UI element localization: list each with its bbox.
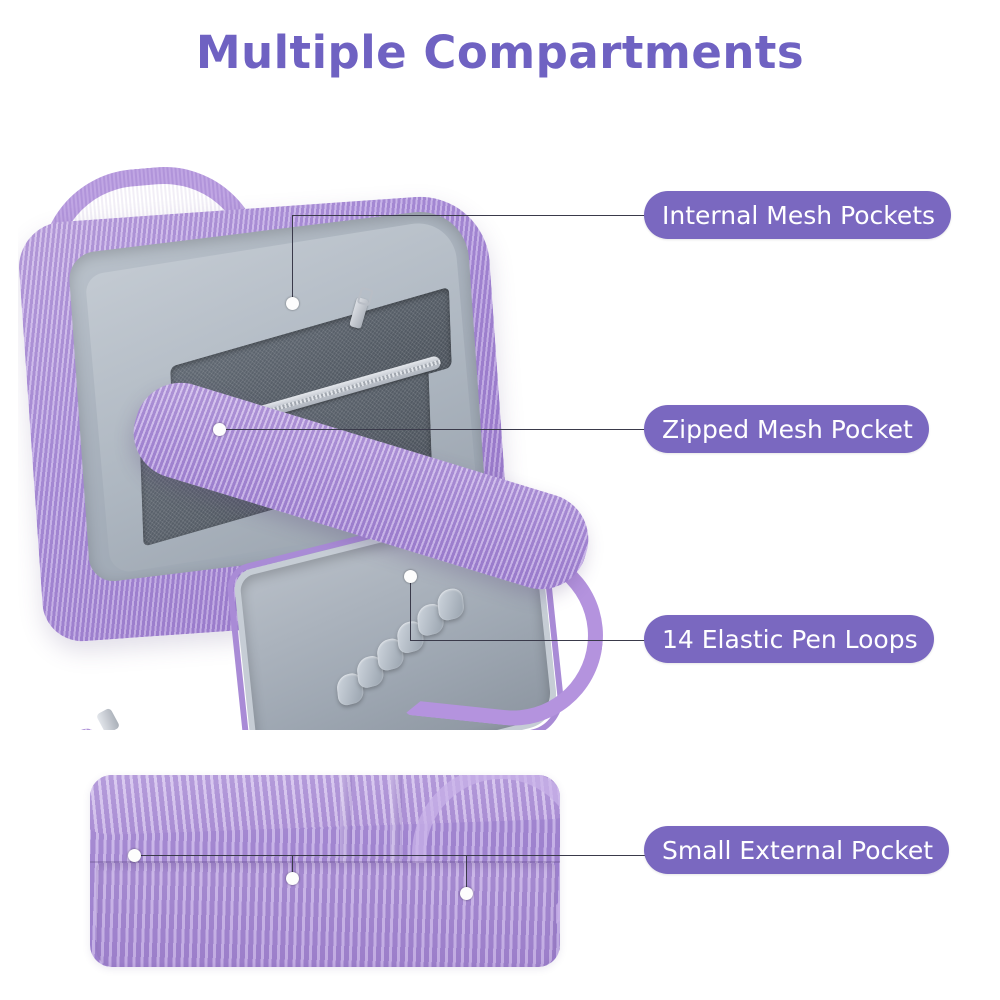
callout-badge-small-external-pocket[interactable]: Small External Pocket bbox=[644, 826, 949, 874]
page-title: Multiple Compartments bbox=[0, 26, 1000, 79]
infographic-canvas: Multiple Compartments bbox=[0, 0, 1000, 1000]
open-pencil-case-main-photo bbox=[18, 150, 638, 730]
marker-dot-elastic-pen-loops bbox=[404, 570, 417, 583]
leader-line-internal-mesh-vertical bbox=[292, 215, 293, 305]
external-pocket-closeup-photo bbox=[90, 775, 560, 967]
pocket-opening-seam bbox=[90, 861, 560, 863]
marker-dot-internal-mesh-pockets bbox=[286, 297, 299, 310]
callout-badge-elastic-pen-loops[interactable]: 14 Elastic Pen Loops bbox=[644, 615, 934, 663]
leader-line-external-pocket-horizontal bbox=[134, 855, 648, 856]
pen-loop bbox=[437, 586, 465, 622]
leader-line-internal-mesh-horizontal bbox=[292, 215, 648, 216]
callout-badge-zipped-mesh-pocket[interactable]: Zipped Mesh Pocket bbox=[644, 405, 929, 453]
leader-line-pen-loops-horizontal bbox=[410, 640, 648, 641]
marker-dot-zipped-mesh-pocket bbox=[213, 423, 226, 436]
marker-dot-external-pocket-3 bbox=[460, 887, 473, 900]
main-zipper-pull bbox=[96, 708, 120, 730]
callout-label-elastic-pen-loops: 14 Elastic Pen Loops bbox=[662, 625, 918, 654]
callout-label-zipped-mesh-pocket: Zipped Mesh Pocket bbox=[662, 415, 913, 444]
leader-line-zipped-mesh bbox=[219, 429, 648, 430]
callout-label-small-external-pocket: Small External Pocket bbox=[662, 836, 933, 865]
marker-dot-external-pocket-1 bbox=[128, 849, 141, 862]
marker-dot-external-pocket-2 bbox=[286, 872, 299, 885]
callout-badge-internal-mesh-pockets[interactable]: Internal Mesh Pockets bbox=[644, 191, 951, 239]
callout-label-internal-mesh-pockets: Internal Mesh Pockets bbox=[662, 201, 935, 230]
small-external-pocket-panel bbox=[96, 863, 556, 967]
leader-line-pen-loops-vertical bbox=[410, 582, 411, 640]
